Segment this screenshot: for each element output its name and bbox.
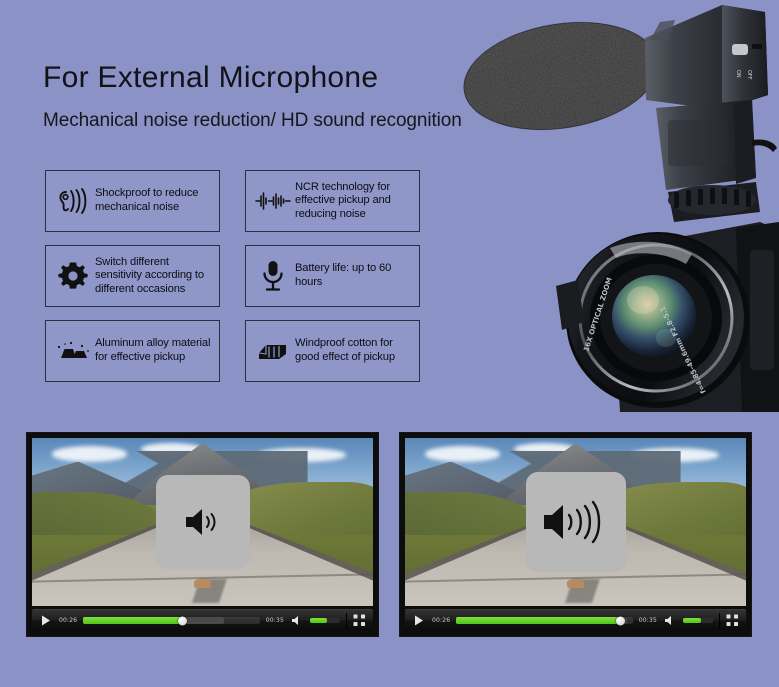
feature-box-sensitivity: Switch different sensitivity according t… [45, 245, 220, 307]
volume-icon[interactable] [290, 614, 304, 628]
video-panel-low-volume: 00:26 00:35 [26, 432, 379, 637]
divider [719, 613, 720, 629]
product-photo: ON OFF [460, 0, 779, 412]
progress-fill [456, 617, 620, 624]
progress-knob[interactable] [178, 616, 187, 625]
feature-label: Battery life: up to 60 hours [293, 262, 413, 289]
mic-body: ON OFF [645, 5, 768, 110]
heading-block: For External Microphone Mechanical noise… [43, 62, 462, 132]
microphone-icon [253, 254, 293, 298]
feature-box-ncr: NCR technology for effective pickup and … [245, 170, 420, 232]
feature-label: Windproof cotton for good effect of pick… [293, 337, 413, 364]
total-time: 00:35 [639, 617, 657, 624]
feature-box-aluminum: Aluminum alloy material for effective pi… [45, 320, 220, 382]
play-icon[interactable] [412, 614, 426, 628]
fullscreen-icon[interactable] [353, 614, 366, 627]
progress-fill [83, 617, 182, 624]
feature-label: Switch different sensitivity according t… [93, 256, 213, 297]
video-control-bar: 00:26 00:35 [405, 609, 746, 631]
fullscreen-icon[interactable] [726, 614, 739, 627]
feature-grid: Shockproof to reduce mechanical noise [45, 170, 425, 382]
gear-icon [53, 254, 93, 298]
volume-fill [310, 618, 327, 623]
divider [346, 613, 347, 629]
feature-box-windproof: Windproof cotton for good effect of pick… [245, 320, 420, 382]
camera-hotshoe [668, 182, 760, 222]
camera-lens: 16X OPTICAL ZOOM f=4.85-49.6mm F2.8-5.1 [556, 232, 750, 408]
windproof-cotton-icon [253, 329, 293, 373]
feature-box-shockproof: Shockproof to reduce mechanical noise [45, 170, 220, 232]
speaker-high-volume-icon [526, 472, 626, 572]
feature-label: Aluminum alloy material for effective pi… [93, 337, 213, 364]
speaker-low-volume-icon [156, 475, 250, 569]
mic-mount [656, 100, 777, 190]
video-screen[interactable] [405, 438, 746, 606]
audio-waveform-icon [253, 179, 293, 223]
volume-icon[interactable] [663, 614, 677, 628]
aluminum-ingot-icon [53, 329, 93, 373]
video-screen[interactable] [32, 438, 373, 606]
photographer-feet [194, 579, 211, 587]
svg-text:ON: ON [735, 70, 741, 78]
current-time: 00:26 [432, 617, 450, 624]
page-subtitle: Mechanical noise reduction/ HD sound rec… [43, 110, 462, 132]
volume-slider[interactable] [683, 618, 713, 623]
video-control-bar: 00:26 00:35 [32, 609, 373, 631]
ear-soundwave-icon [53, 179, 93, 223]
video-panel-high-volume: 00:26 00:35 [399, 432, 752, 637]
video-row: 00:26 00:35 [0, 432, 779, 642]
photographer-feet [567, 579, 584, 587]
svg-text:OFF: OFF [746, 70, 752, 80]
mic-windscreen [460, 9, 670, 142]
volume-fill [683, 618, 701, 623]
total-time: 00:35 [266, 617, 284, 624]
play-icon[interactable] [39, 614, 53, 628]
feature-label: Shockproof to reduce mechanical noise [93, 187, 213, 214]
progress-bar[interactable] [83, 617, 259, 624]
feature-label: NCR technology for effective pickup and … [293, 181, 413, 222]
progress-knob[interactable] [616, 616, 625, 625]
progress-bar[interactable] [456, 617, 632, 624]
feature-box-battery: Battery life: up to 60 hours [245, 245, 420, 307]
current-time: 00:26 [59, 617, 77, 624]
volume-slider[interactable] [310, 618, 340, 623]
page-title: For External Microphone [43, 62, 462, 94]
